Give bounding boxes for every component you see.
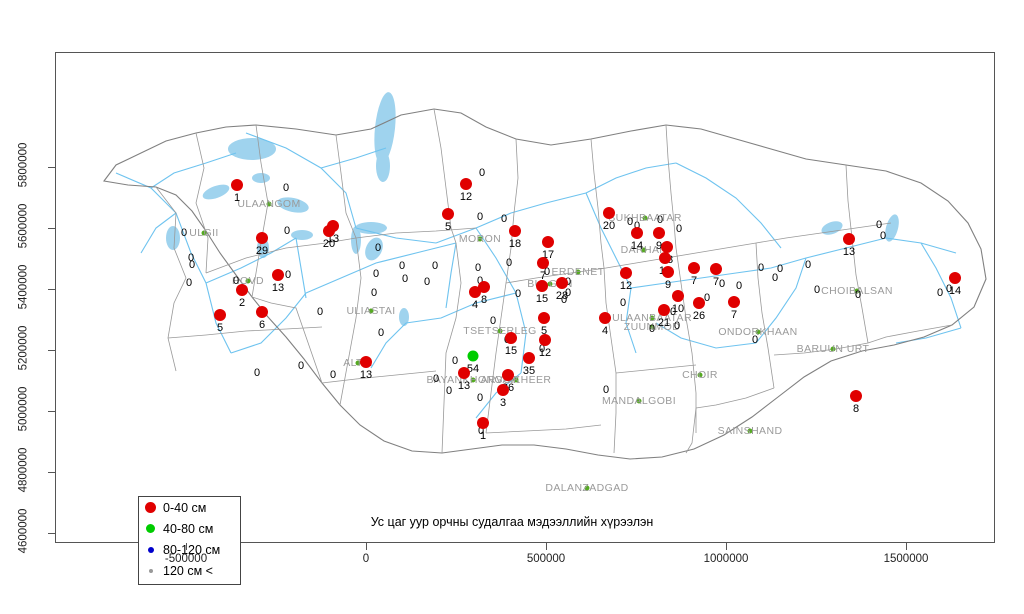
city-label: BARUUN URT [797,343,870,355]
zero-value-label: 0 [477,211,483,223]
zero-value-label: 0 [189,259,195,271]
station-point [236,284,248,296]
map-plot-frame: ULAANGOMULGIIHOVDULIASTAIALTAIMORONERDEN… [55,52,995,543]
city-label: CHOIR [682,369,718,381]
station-point [536,280,548,292]
city-label: MORON [459,233,501,245]
y-axis-tick [48,350,55,351]
zero-value-label: 0 [477,392,483,404]
legend-label: 0-40 см [163,501,206,515]
zero-value-label: 0 [676,223,682,235]
zero-value-label: 0 [285,269,291,281]
station-value-label: 4 [602,325,608,337]
x-axis-tick-label: 1000000 [704,553,749,565]
zero-value-label: 0 [433,373,439,385]
station-value-label: 7 [691,275,697,287]
station-point [850,390,862,402]
city-label: DALANZADGAD [545,482,628,494]
zero-value-label: 0 [719,278,725,290]
y-axis-tick [48,289,55,290]
station-value-label: 15 [536,293,548,305]
station-value-label: 13 [458,380,470,392]
station-value-label: 1 [234,192,240,204]
station-point [442,208,454,220]
y-axis-tick-label: 4600000 [0,525,46,537]
zero-value-label: 0 [186,277,192,289]
legend-swatch-icon [149,569,153,573]
y-axis-tick-label: 4800000 [0,464,46,476]
station-point [693,297,705,309]
zero-value-label: 0 [402,273,408,285]
station-value-label: 21 [658,317,670,329]
zero-value-label: 0 [181,227,187,239]
zero-value-label: 0 [627,216,633,228]
station-value-label: 29 [256,245,268,257]
y-axis-tick-label: 5800000 [0,159,46,171]
station-point [542,236,554,248]
station-point [458,367,470,379]
zero-value-label: 0 [515,288,521,300]
station-point [843,233,855,245]
station-value-label: 18 [509,238,521,250]
station-point [662,266,674,278]
legend-item-0: 0-40 см [139,497,240,518]
station-point [653,227,665,239]
zero-value-label: 0 [375,242,381,254]
zero-value-label: 0 [490,315,496,327]
x-axis-tick [186,543,187,550]
x-axis-tick-label: 1500000 [884,553,929,565]
station-value-label: 35 [523,365,535,377]
city-label: ULGII [189,227,218,239]
zero-value-label: 0 [378,327,384,339]
x-axis-tick [366,543,367,550]
city-label: SUKHBAATAR [608,212,682,224]
zero-value-label: 0 [649,323,655,335]
zero-value-label: 0 [805,259,811,271]
station-point [631,227,643,239]
station-value-label: 12 [620,280,632,292]
zero-value-label: 0 [317,306,323,318]
station-point [599,312,611,324]
zero-value-label: 0 [506,257,512,269]
station-point [468,351,479,362]
legend-item-1: 40-80 см [139,518,240,539]
station-value-label: 8 [853,403,859,415]
zero-value-label: 0 [452,355,458,367]
zero-value-label: 0 [371,287,377,299]
legend-swatch-icon [146,524,155,533]
zero-value-label: 0 [479,167,485,179]
station-value-label: 14 [949,285,961,297]
station-value-label: 20 [323,238,335,250]
station-point [477,417,489,429]
station-value-label: 13 [272,282,284,294]
zero-value-label: 0 [603,384,609,396]
zero-value-label: 0 [254,367,260,379]
y-axis-tick-label: 5000000 [0,403,46,415]
city-label: ULIASTAI [346,305,395,317]
y-axis-tick-label: 5400000 [0,281,46,293]
y-axis-tick [48,472,55,473]
station-value-label: 12 [539,347,551,359]
x-axis-tick-label: 0 [363,553,369,565]
zero-value-label: 0 [880,230,886,242]
station-value-label: 8 [481,294,487,306]
station-value-label: 9 [665,279,671,291]
station-point [231,179,243,191]
station-point [323,225,335,237]
station-point [256,232,268,244]
y-axis-tick-label: 5600000 [0,220,46,232]
station-value-label: 20 [603,220,615,232]
legend-label: 40-80 см [163,522,213,536]
station-point [710,263,722,275]
station-point [539,334,551,346]
station-value-label: 2 [239,297,245,309]
station-point [537,257,549,269]
zero-value-label: 0 [758,262,764,274]
station-value-label: 14 [631,240,643,252]
station-value-label: 13 [360,369,372,381]
station-value-label: 13 [843,246,855,258]
x-axis-tick [546,543,547,550]
station-point [688,262,700,274]
zero-value-label: 0 [298,360,304,372]
station-value-label: 12 [460,191,472,203]
station-value-label: 28 [556,290,568,302]
station-value-label: 6 [259,319,265,331]
y-axis-tick [48,167,55,168]
zero-value-label: 0 [330,369,336,381]
y-axis-tick [48,411,55,412]
station-point [556,277,568,289]
station-point [620,267,632,279]
zero-value-label: 0 [752,334,758,346]
station-value-label: 1 [480,430,486,442]
footer-caption: Ус цаг уур орчны судалгаа мэдээллийн хүр… [371,515,654,529]
zero-value-label: 0 [284,225,290,237]
zero-value-label: 0 [736,280,742,292]
city-label: SAINSHAND [718,425,783,437]
station-value-label: 26 [693,310,705,322]
station-point [523,352,535,364]
station-point [538,312,550,324]
station-point [603,207,615,219]
x-axis-tick-label: -500000 [165,553,207,565]
station-point [214,309,226,321]
station-point [360,356,372,368]
city-label: ULAANGOM [237,198,300,210]
zero-value-label: 0 [814,284,820,296]
zero-value-label: 0 [373,268,379,280]
zero-value-label: 0 [446,385,452,397]
zero-value-label: 0 [501,213,507,225]
legend-swatch-icon [148,547,154,553]
station-point [502,369,514,381]
station-point [949,272,961,284]
map-screenshot: Мөсний зузаан, см ( 2022 / 11 / 11 ) [0,0,1024,614]
station-value-label: 7 [713,276,719,288]
station-point [272,269,284,281]
x-axis-tick [906,543,907,550]
station-value-label: 15 [505,345,517,357]
x-axis-tick-label: 500000 [527,553,565,565]
city-label: TSETSERLEG [463,325,536,337]
station-point [497,384,509,396]
zero-value-label: 0 [855,289,861,301]
station-value-label: 3 [500,397,506,409]
zero-value-label: 0 [432,260,438,272]
station-value-label: 10 [672,303,684,315]
zero-value-label: 0 [399,260,405,272]
legend-swatch-icon [145,502,156,513]
station-point [478,281,490,293]
zero-value-label: 0 [657,214,663,226]
zero-value-label: 0 [777,263,783,275]
station-value-label: 7 [731,309,737,321]
station-point [505,332,517,344]
station-value-label: 5 [445,221,451,233]
city-label: ARVAIKHEER [481,374,552,386]
y-axis-tick [48,228,55,229]
zero-value-label: 0 [424,276,430,288]
station-value-label: 4 [472,299,478,311]
legend: 0-40 см40-80 см80-120 см120 см < [138,496,241,585]
station-point [658,304,670,316]
city-label: ERDENET [552,266,605,278]
zero-value-label: 0 [620,297,626,309]
station-point [728,296,740,308]
legend-label: 120 см < [163,564,213,578]
station-point [509,225,521,237]
y-axis-tick-label: 5200000 [0,342,46,354]
station-point [659,252,671,264]
station-point [256,306,268,318]
station-value-label: 5 [217,322,223,334]
x-axis-tick [726,543,727,550]
zero-value-label: 0 [283,182,289,194]
y-axis-tick [48,533,55,534]
zero-value-label: 0 [674,320,680,332]
station-point [460,178,472,190]
zero-value-label: 0 [475,262,481,274]
zero-value-label: 0 [937,287,943,299]
city-label: MANDALGOBI [602,395,676,407]
station-point [672,290,684,302]
